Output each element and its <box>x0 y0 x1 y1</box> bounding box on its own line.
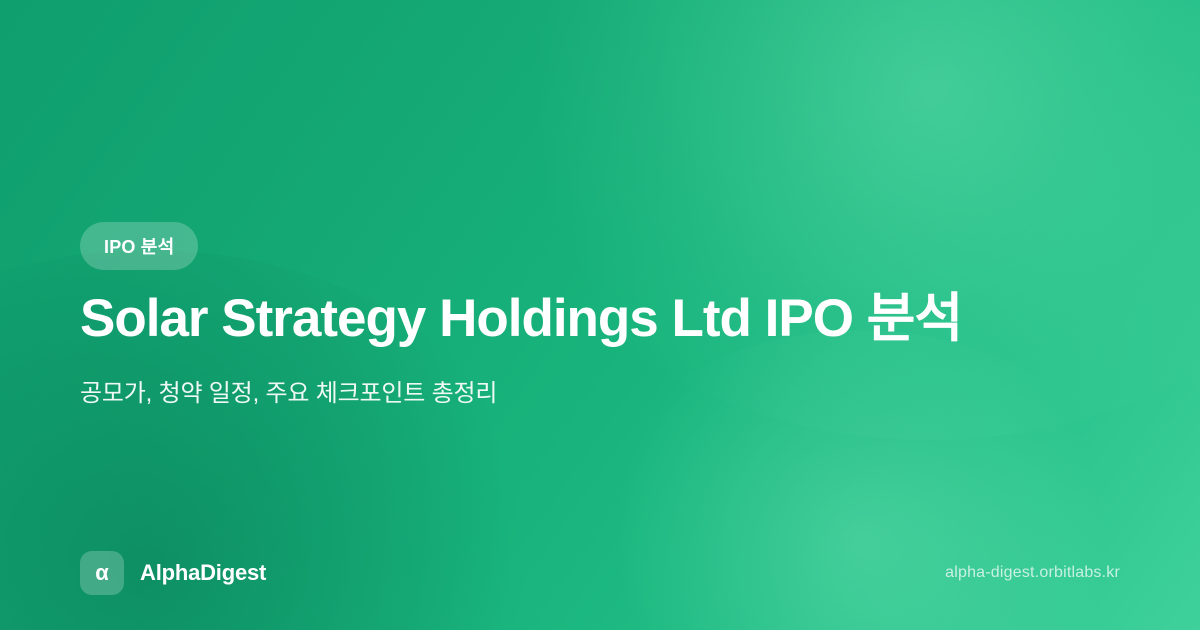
page-title: Solar Strategy Holdings Ltd IPO 분석 <box>80 288 962 351</box>
card-footer: α AlphaDigest alpha-digest.orbitlabs.kr <box>80 516 1120 630</box>
site-url: alpha-digest.orbitlabs.kr <box>945 564 1120 582</box>
brand-lockup: α AlphaDigest <box>80 551 266 595</box>
share-card: IPO 분석 Solar Strategy Holdings Ltd IPO 분… <box>0 0 1200 630</box>
brand-name: AlphaDigest <box>140 560 266 586</box>
alpha-logo-icon: α <box>80 551 124 595</box>
category-badge: IPO 분석 <box>80 222 198 270</box>
page-subtitle: 공모가, 청약 일정, 주요 체크포인트 총정리 <box>80 377 497 411</box>
